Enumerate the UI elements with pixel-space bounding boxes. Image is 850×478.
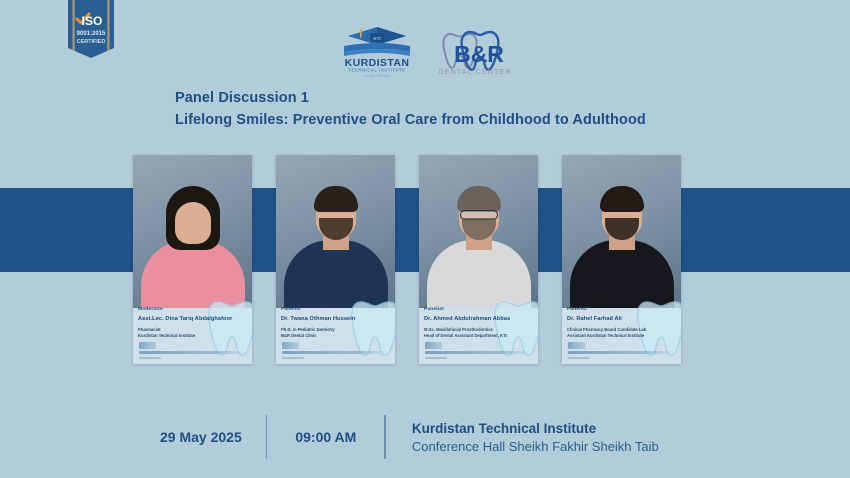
br-dental-center-logo: B&R DENTAL CENTER	[434, 22, 516, 78]
speaker-info: Moderator Asst.Lec. Dina Tariq Abdalghaf…	[138, 307, 247, 340]
card-footer	[568, 342, 675, 359]
card-footer	[139, 342, 246, 359]
card-footer-tagline	[282, 351, 389, 354]
speaker-card[interactable]: Panelist Dr. Ahmed Abdulrahman Abbas M.S…	[419, 155, 538, 364]
speaker-card[interactable]: Moderator Asst.Lec. Dina Tariq Abdalghaf…	[133, 155, 252, 364]
event-time: 09:00 AM	[267, 429, 384, 445]
speaker-name: Dr. Rahel Farhad Ali	[567, 316, 676, 322]
svg-text:پەیمانگای تەکنیکی: پەیمانگای تەکنیکی	[364, 73, 391, 78]
card-footer-logo	[139, 342, 156, 349]
kti-subtitle: TECHNICAL INSTITUTE	[348, 68, 405, 73]
card-footer	[425, 342, 532, 359]
speaker-role: Moderator	[138, 307, 247, 312]
speaker-role: Panelist	[281, 307, 390, 312]
card-footer-logo	[568, 342, 585, 349]
iso-line3: CERTIFIED	[77, 39, 106, 45]
card-footer-tagline-secondary	[139, 357, 161, 359]
card-footer-logo	[282, 342, 299, 349]
speaker-title-line2: Kurdistan Technical Institute	[138, 333, 247, 340]
speaker-card[interactable]: Panelist Dr. Twana Othman Hussein Ph.D. …	[276, 155, 395, 364]
iso-certified-ribbon: ISO 9001:2015 CERTIFIED	[68, 0, 114, 58]
card-footer-tagline-secondary	[425, 357, 447, 359]
svg-text:KTI: KTI	[373, 36, 380, 41]
page-title: Lifelong Smiles: Preventive Oral Care fr…	[175, 112, 646, 128]
card-footer-tagline-secondary	[568, 357, 590, 359]
speaker-info: Panelist Dr. Twana Othman Hussein Ph.D. …	[281, 307, 390, 340]
event-poster: ISO 9001:2015 CERTIFIED KTI KURDISTAN TE…	[0, 0, 850, 478]
speaker-name: Asst.Lec. Dina Tariq Abdalghafoor	[138, 316, 247, 322]
speaker-name: Dr. Twana Othman Hussein	[281, 316, 390, 322]
speaker-role: Panelist	[424, 307, 533, 312]
speaker-photo	[419, 155, 538, 308]
event-date: 29 May 2025	[160, 429, 266, 445]
speaker-info: Panelist Dr. Ahmed Abdulrahman Abbas M.S…	[424, 307, 533, 340]
event-details-bar: 29 May 2025 09:00 AM Kurdistan Technical…	[160, 415, 659, 459]
logo-row: KTI KURDISTAN TECHNICAL INSTITUTE پەیمان…	[0, 22, 850, 78]
speaker-photo	[562, 155, 681, 308]
speaker-card[interactable]: Panelist Dr. Rahel Farhad Ali Clinical P…	[562, 155, 681, 364]
card-footer-tagline	[425, 351, 532, 354]
speaker-role: Panelist	[567, 307, 676, 312]
br-wordmark: B&R	[454, 41, 504, 67]
br-subtitle: DENTAL CENTER	[438, 67, 511, 76]
card-footer	[282, 342, 389, 359]
card-footer-tagline	[568, 351, 675, 354]
speaker-photo	[133, 155, 252, 308]
speaker-photo	[276, 155, 395, 308]
event-venue: Kurdistan Technical Institute Conference…	[386, 421, 659, 454]
venue-name: Kurdistan Technical Institute	[412, 421, 659, 436]
speaker-info: Panelist Dr. Rahel Farhad Ali Clinical P…	[567, 307, 676, 340]
iso-line2: 9001:2015	[77, 31, 106, 37]
card-footer-tagline	[139, 351, 246, 354]
kurdistan-technical-institute-logo: KTI KURDISTAN TECHNICAL INSTITUTE پەیمان…	[334, 22, 420, 78]
speaker-card-list: Moderator Asst.Lec. Dina Tariq Abdalghaf…	[133, 155, 717, 364]
panel-eyebrow: Panel Discussion 1	[175, 90, 646, 106]
speaker-title-line2: Assistant Kurdistan Technical Institute	[567, 333, 676, 340]
iso-line1: ISO	[82, 14, 103, 28]
speaker-title-line2: B&R Dental Clinic	[281, 333, 390, 340]
headline-block: Panel Discussion 1 Lifelong Smiles: Prev…	[175, 90, 646, 128]
card-footer-tagline-secondary	[282, 357, 304, 359]
card-footer-logo	[425, 342, 442, 349]
speaker-title-line2: Head of Dental Assistant Department, KTI	[424, 333, 533, 340]
speaker-name: Dr. Ahmed Abdulrahman Abbas	[424, 316, 533, 322]
venue-hall: Conference Hall Sheikh Fakhir Sheikh Tai…	[412, 439, 659, 454]
